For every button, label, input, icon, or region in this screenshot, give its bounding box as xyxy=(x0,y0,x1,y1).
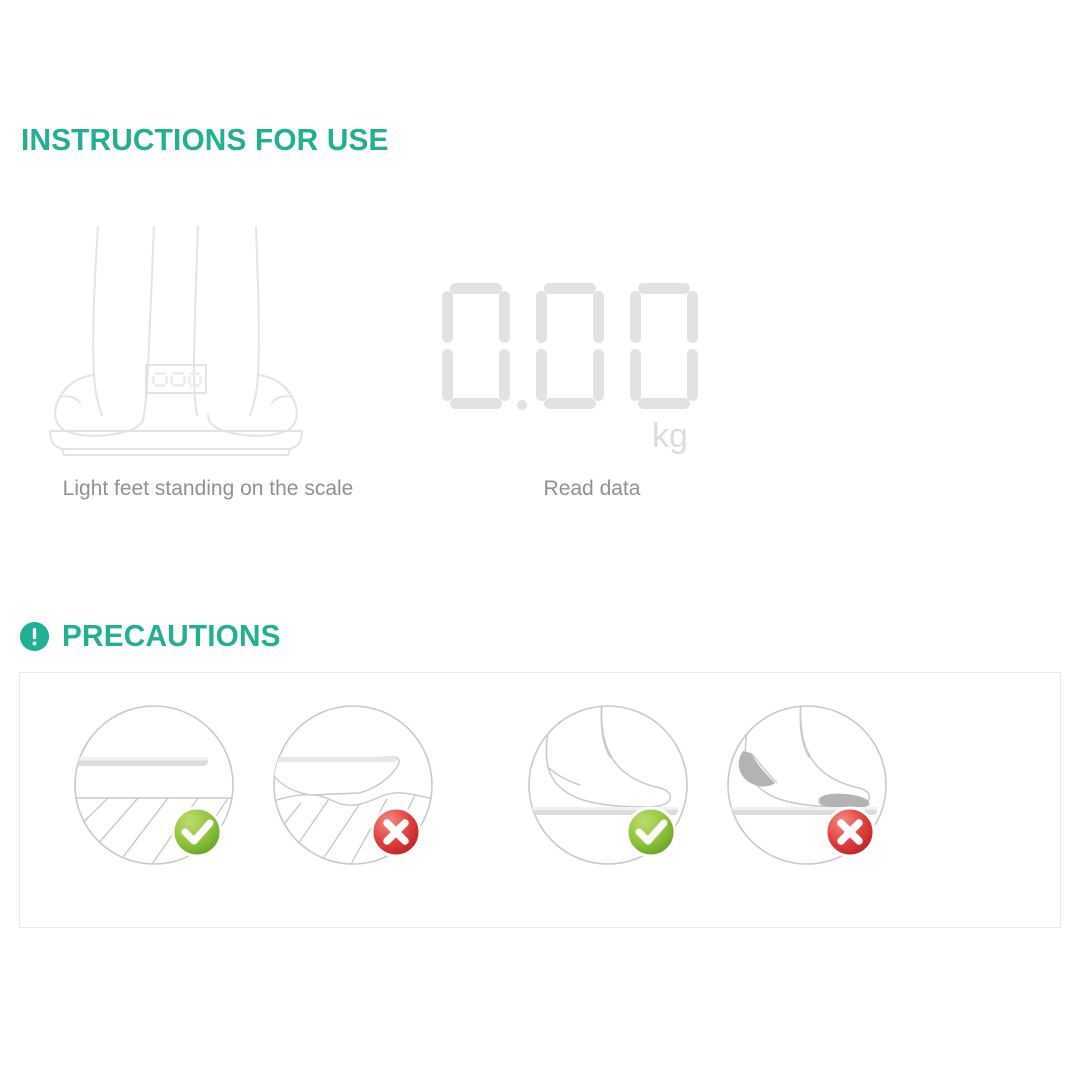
precautions-title: PRECAUTIONS xyxy=(62,618,281,654)
precaution-sock-foot xyxy=(717,695,907,885)
page-title: INSTRUCTIONS FOR USE xyxy=(21,122,389,158)
step-caption: Read data xyxy=(412,477,772,501)
precautions-header: PRECAUTIONS xyxy=(19,615,290,657)
exclamation-circle-icon xyxy=(19,621,50,652)
precaution-hard-floor xyxy=(64,695,254,885)
precaution-soft-carpet xyxy=(263,695,453,885)
instruction-step-stand-on-scale: Light feet standing on the scale xyxy=(28,225,388,545)
step-caption: Light feet standing on the scale xyxy=(28,477,388,501)
lcd-display-illustration: kg xyxy=(412,225,772,470)
precaution-bare-foot xyxy=(518,695,708,885)
svg-text:kg: kg xyxy=(652,417,688,455)
precautions-panel xyxy=(19,672,1061,928)
instruction-step-read-data: kg Read data xyxy=(412,225,772,545)
instruction-steps: Light feet standing on the scale xyxy=(0,225,1080,545)
feet-on-scale-illustration xyxy=(28,225,388,470)
